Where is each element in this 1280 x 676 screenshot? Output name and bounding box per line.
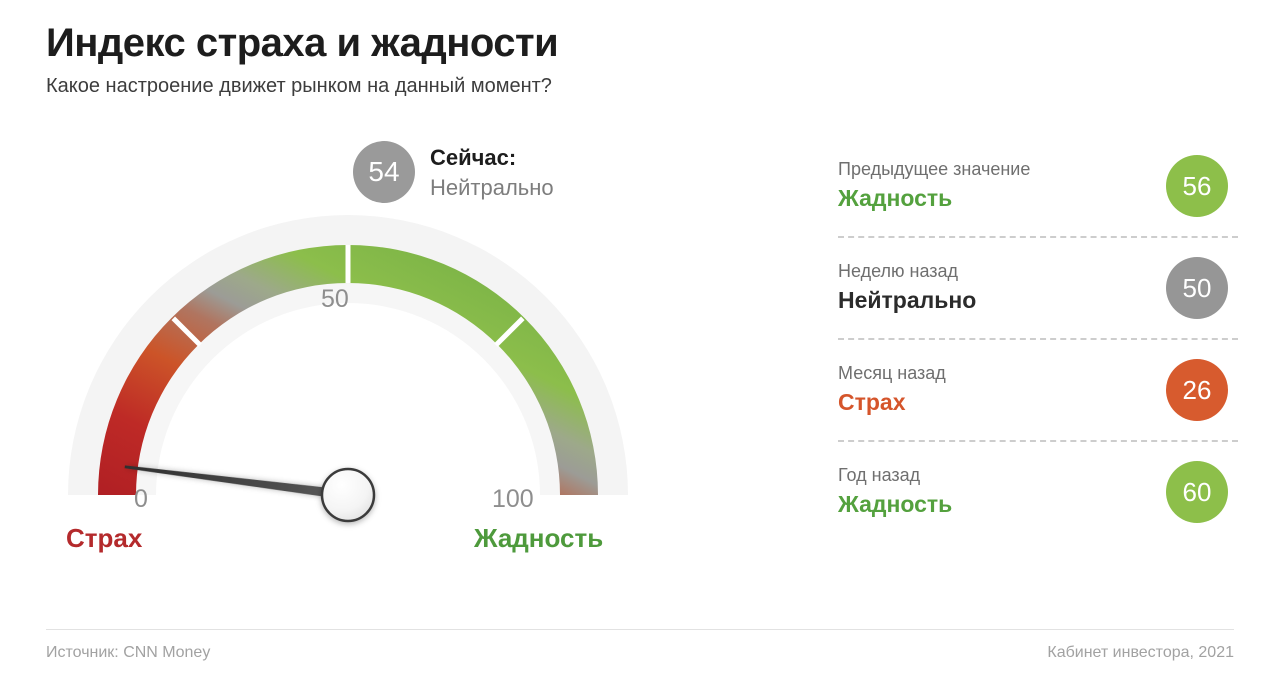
history-value-text: 26 <box>1183 375 1212 406</box>
history-sentiment-label: Страх <box>838 388 1166 418</box>
history-period-label: Неделю назад <box>838 260 1166 283</box>
history-row-week: Неделю назад Нейтрально 50 <box>838 238 1238 338</box>
history-value-badge: 26 <box>1166 359 1228 421</box>
history-row-text: Год назад Жадность <box>838 464 1166 520</box>
history-sentiment-label: Жадность <box>838 490 1166 520</box>
gauge-hub <box>322 469 374 521</box>
history-value-text: 56 <box>1183 171 1212 202</box>
history-row-text: Месяц назад Страх <box>838 362 1166 418</box>
gauge-end-label-fear: Страх <box>66 523 142 554</box>
header: Индекс страха и жадности Какое настроени… <box>46 22 846 98</box>
history-row-month: Месяц назад Страх 26 <box>838 340 1238 440</box>
history-value-badge: 60 <box>1166 461 1228 523</box>
footer-credit: Кабинет инвестора, 2021 <box>1047 644 1234 662</box>
history-value-text: 60 <box>1183 477 1212 508</box>
footer-divider <box>46 629 1234 630</box>
page-title: Индекс страха и жадности <box>46 22 846 64</box>
gauge-end-label-greed: Жадность <box>474 523 603 554</box>
history-period-label: Год назад <box>838 464 1166 487</box>
footer-source: Источник: CNN Money <box>46 644 210 662</box>
current-status: Нейтрально <box>430 174 554 202</box>
history-period-label: Месяц назад <box>838 362 1166 385</box>
current-value-text: 54 <box>368 156 399 188</box>
history-sentiment-label: Нейтрально <box>838 286 1166 316</box>
footer: Источник: CNN Money Кабинет инвестора, 2… <box>46 644 1234 662</box>
current-value-badge: 54 <box>353 141 415 203</box>
history-value-badge: 50 <box>1166 257 1228 319</box>
history-row-year: Год назад Жадность 60 <box>838 442 1238 542</box>
gauge-tick-label-max: 100 <box>492 485 534 514</box>
gauge-tick-label-mid: 50 <box>321 285 349 314</box>
history-row-text: Неделю назад Нейтрально <box>838 260 1166 316</box>
current-status-block: Сейчас: Нейтрально <box>430 144 554 201</box>
history-value-badge: 56 <box>1166 155 1228 217</box>
history-period-label: Предыдущее значение <box>838 158 1166 181</box>
gauge-panel: 0 50 100 Страх Жадность 54 Сейчас: Нейтр… <box>30 130 690 600</box>
current-label: Сейчас: <box>430 144 554 172</box>
history-row-previous: Предыдущее значение Жадность 56 <box>838 136 1238 236</box>
history-row-text: Предыдущее значение Жадность <box>838 158 1166 214</box>
gauge-tick-label-min: 0 <box>134 485 148 514</box>
history-value-text: 50 <box>1183 273 1212 304</box>
page-subtitle: Какое настроение движет рынком на данный… <box>46 74 846 98</box>
history-sentiment-label: Жадность <box>838 184 1166 214</box>
history-list: Предыдущее значение Жадность 56 Неделю н… <box>838 136 1238 542</box>
